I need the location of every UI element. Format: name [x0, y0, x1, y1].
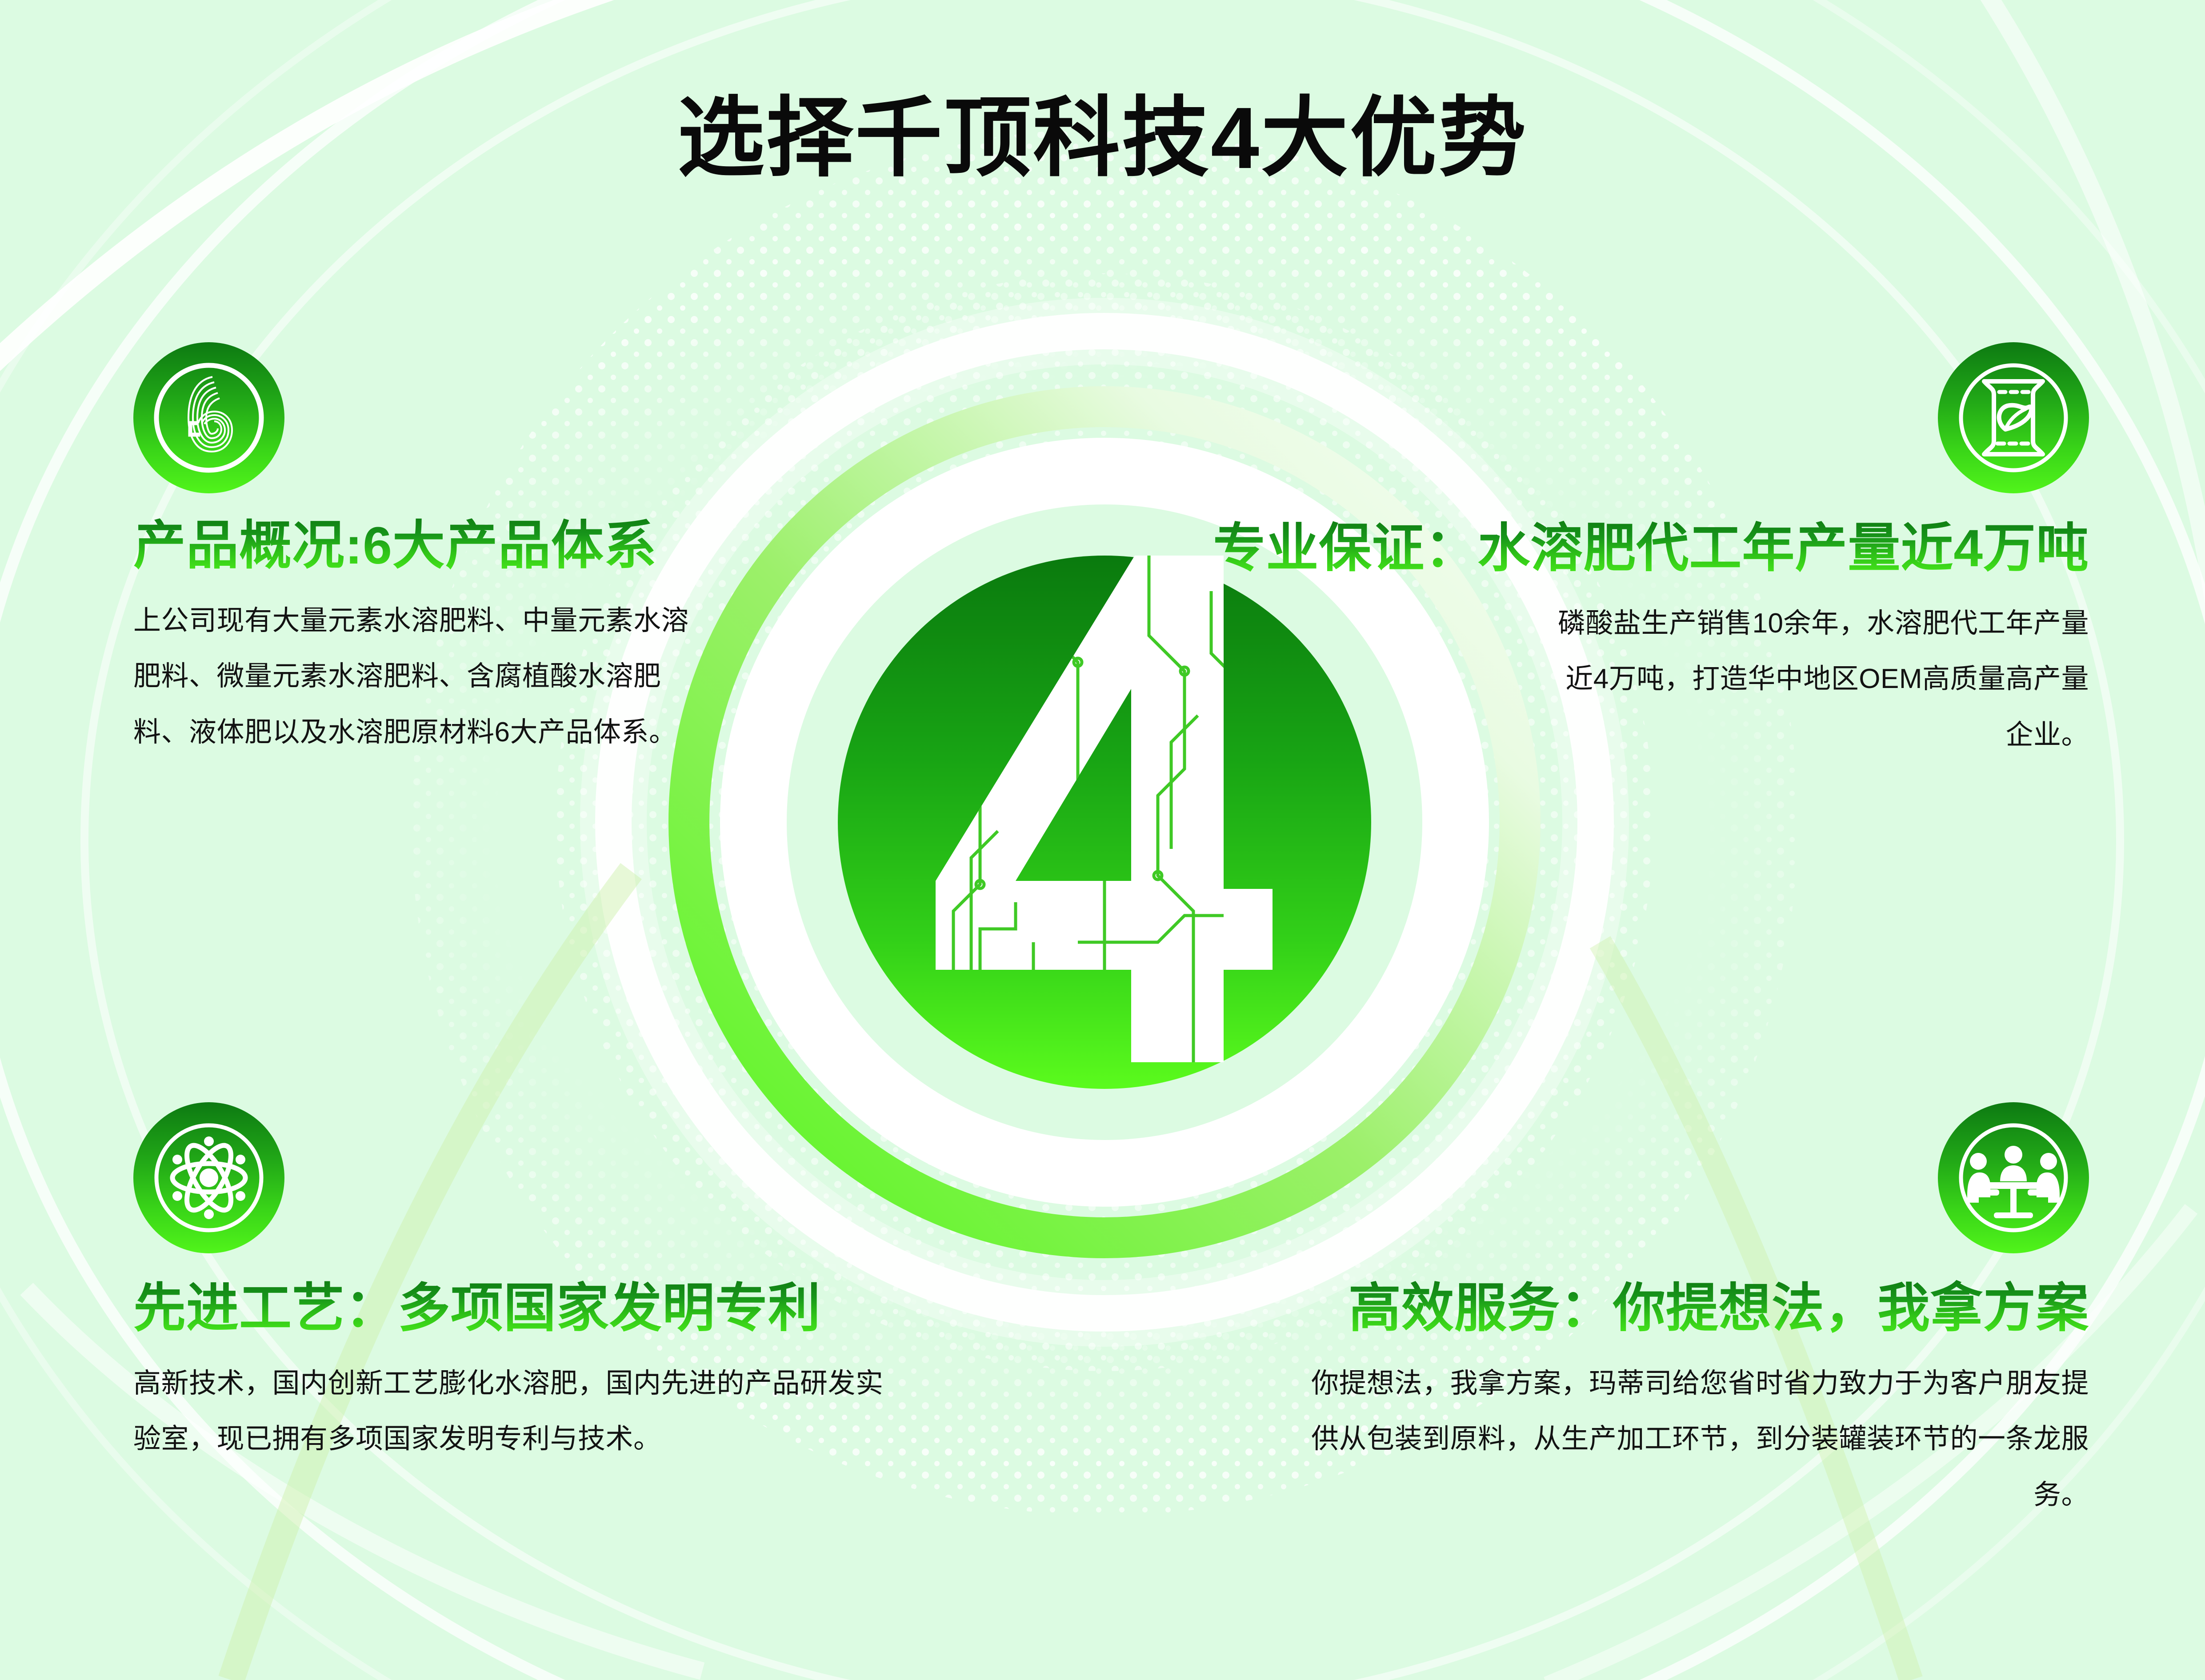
advantage-heading: 先进工艺：多项国家发明专利 [133, 1279, 889, 1338]
advantage-heading: 产品概况:6大产品体系 [133, 516, 698, 575]
advantage-body: 上公司现有大量元素水溶肥料、中量元素水溶肥料、微量元素水溶肥料、含腐植酸水溶肥料… [133, 593, 691, 760]
meeting-people-table-icon [1938, 1102, 2089, 1253]
infographic-stage: 选择千顶科技4大优势 [0, 0, 2205, 1680]
advantage-body: 你提想法，我拿方案，玛蒂司给您省时省力致力于为客户朋友提供从包装到原料，从生产加… [1298, 1356, 2089, 1523]
advantage-body: 磷酸盐生产销售10余年，水溶肥代工年产量近4万吨，打造华中地区OEM高质量高产量… [1556, 596, 2089, 763]
advantage-block-bottom-left: 先进工艺：多项国家发明专利 高新技术，国内创新工艺膨化水溶肥，国内先进的产品研发… [133, 1102, 889, 1467]
advantage-block-bottom-right: 高效服务：你提想法，我拿方案 你提想法，我拿方案，玛蒂司给您省时省力致力于为客户… [1298, 1102, 2089, 1523]
fertilizer-bag-leaf-icon [1938, 342, 2089, 493]
page-title: 选择千顶科技4大优势 [0, 91, 2205, 185]
number-six-spiral-icon [133, 342, 284, 493]
advantage-heading: 专业保证：水溶肥代工年产量近4万吨 [1200, 519, 2089, 578]
advantage-heading: 高效服务：你提想法，我拿方案 [1298, 1279, 2089, 1338]
advantage-block-top-right: 专业保证：水溶肥代工年产量近4万吨 磷酸盐生产销售10余年，水溶肥代工年产量近4… [1200, 342, 2089, 763]
advantage-block-top-left: 产品概况:6大产品体系 上公司现有大量元素水溶肥料、中量元素水溶肥料、微量元素水… [133, 342, 698, 760]
advantage-body: 高新技术，国内创新工艺膨化水溶肥，国内先进的产品研发实验室，现已拥有多项国家发明… [133, 1356, 884, 1467]
atom-icon [133, 1102, 284, 1253]
